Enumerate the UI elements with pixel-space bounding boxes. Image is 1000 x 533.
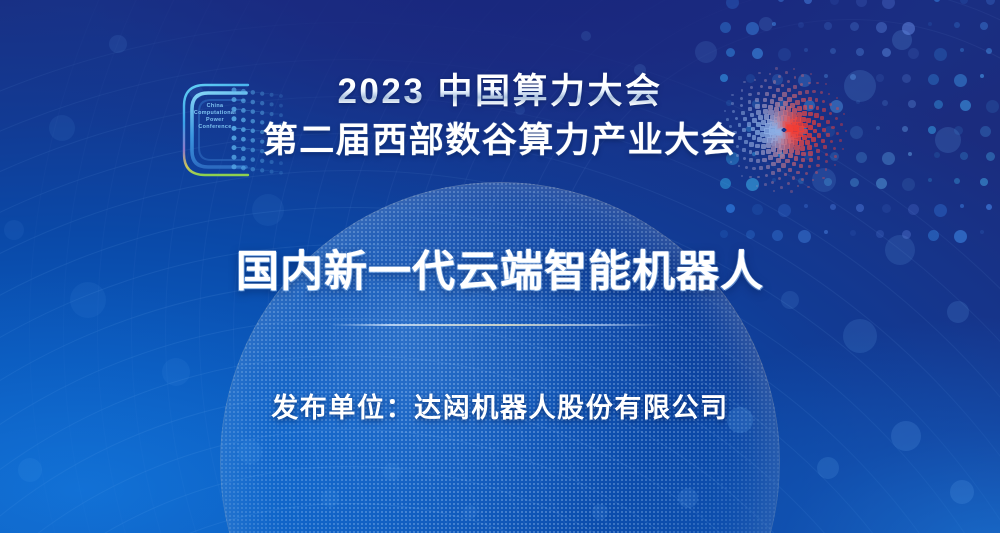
page-title: 国内新一代云端智能机器人 — [0, 246, 1000, 298]
conference-title-line-1: 2023 中国算力大会 — [0, 70, 1000, 114]
conference-title-line-2: 第二届西部数谷算力产业大会 — [0, 118, 1000, 164]
publisher-line: 发布单位：达闼机器人股份有限公司 — [0, 386, 1000, 425]
presentation-slide: China Computational Power Conference 202… — [0, 0, 1000, 533]
conference-title-block: 2023 中国算力大会 第二届西部数谷算力产业大会 — [0, 70, 1000, 164]
